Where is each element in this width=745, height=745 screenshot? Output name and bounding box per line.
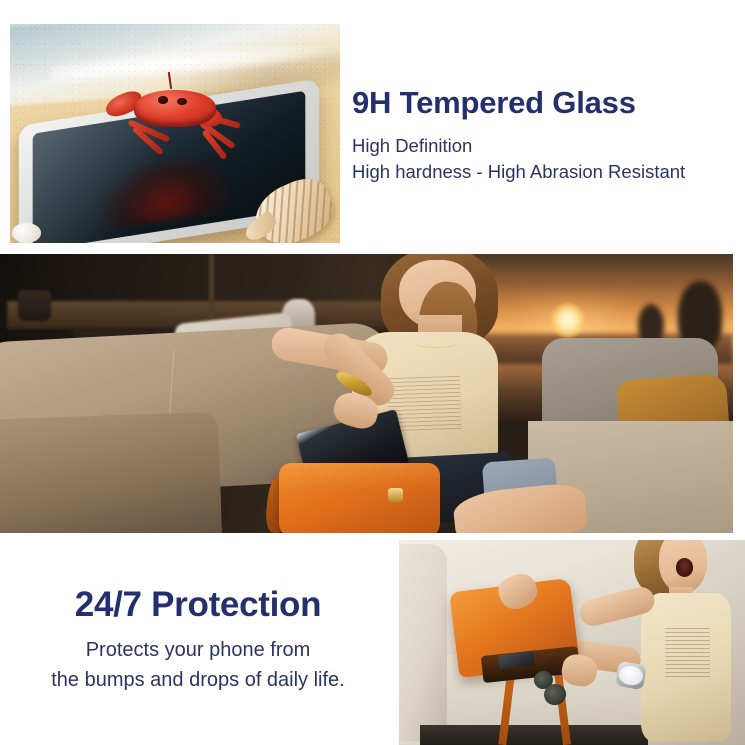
crab-eye (177, 98, 188, 105)
handbag-clasp (388, 488, 403, 502)
pebble (12, 223, 42, 243)
headline-title: 9H Tempered Glass (352, 86, 744, 121)
dark-floor (420, 725, 648, 745)
crab-body (134, 90, 215, 126)
tank-top-print (665, 628, 710, 677)
crab (102, 70, 247, 149)
protection-subtitle-line-2: the bumps and drops of daily life. (0, 665, 396, 695)
protection-title: 24/7 Protection (0, 586, 396, 625)
crab-eye (158, 96, 169, 103)
shelf-jar (18, 290, 51, 321)
white-sofa-armrest (399, 544, 447, 741)
wristwatch-face (617, 664, 645, 687)
crab-antenna (168, 72, 172, 89)
wristwatch (615, 661, 647, 690)
protection-subtitle-line-1: Protects your phone from (0, 635, 396, 665)
woman-placing-tablet-in-handbag-photo (0, 254, 733, 533)
product-feature-collage: 9H Tempered Glass High Definition High h… (0, 0, 745, 745)
crab-on-tablet-beach-photo (10, 24, 340, 243)
headline-subtitle-line-2: High hardness - High Abrasion Resistant (352, 159, 744, 186)
handbag-flap (279, 463, 440, 485)
headline-subtitle-line-1: High Definition (352, 133, 744, 160)
sun-disc (551, 303, 585, 338)
couch-armrest (0, 412, 222, 533)
protection-block: 24/7 Protection Protects your phone from… (0, 586, 396, 695)
woman-open-mouth (676, 558, 693, 576)
headline-block: 9H Tempered Glass High Definition High h… (352, 86, 744, 186)
woman-surprised-bag-spill-photo (399, 540, 745, 745)
